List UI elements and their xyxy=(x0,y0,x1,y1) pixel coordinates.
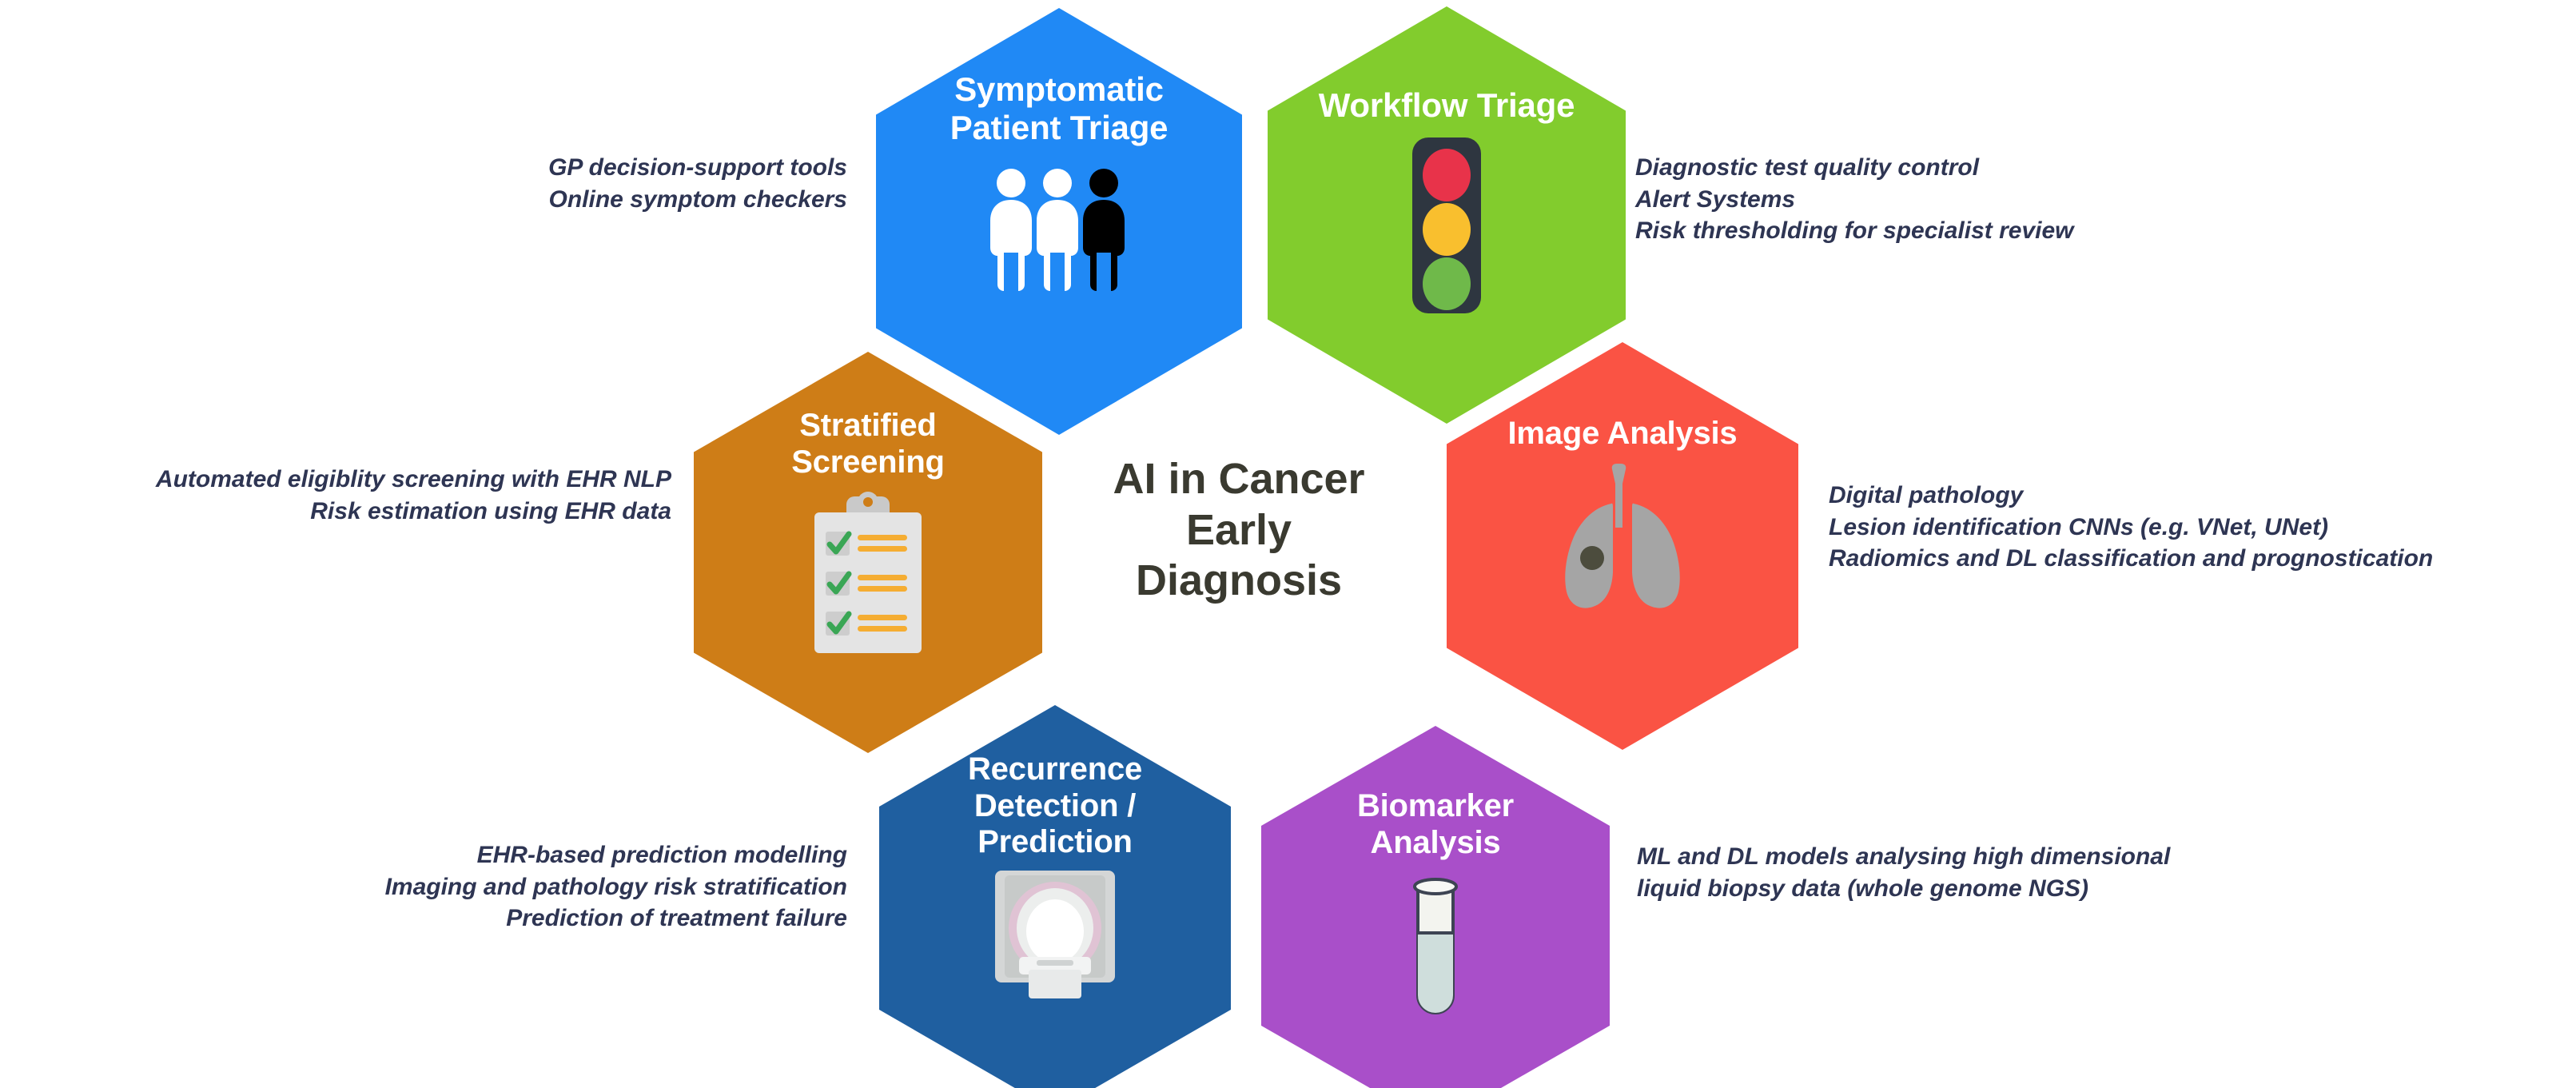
mri-scanner-icon xyxy=(987,867,1123,1003)
traffic-light-icon xyxy=(1403,137,1491,313)
hexagon-title-image-analysis: Image Analysis xyxy=(1508,416,1738,452)
annotation-workflow-triage: Diagnostic test quality control Alert Sy… xyxy=(1635,152,2259,247)
hexagon-title-biomarker-analysis: Biomarker Analysis xyxy=(1357,788,1514,861)
diagram-canvas: Symptomatic Patient Triage xyxy=(0,0,2576,1088)
annotation-image-analysis: Digital pathology Lesion identification … xyxy=(1829,480,2572,575)
annotation-biomarker-analysis: ML and DL models analysing high dimensio… xyxy=(1637,841,2340,904)
lung-nodule-marker xyxy=(1580,546,1604,570)
hexagon-image-analysis[interactable]: Image Analysis xyxy=(1447,342,1798,750)
hexagon-title-symptomatic-patient-triage: Symptomatic Patient Triage xyxy=(950,70,1169,147)
hexagon-workflow-triage[interactable]: Workflow Triage xyxy=(1268,6,1626,424)
center-title: AI in Cancer Early Diagnosis xyxy=(1031,454,1447,607)
hexagon-biomarker-analysis[interactable]: Biomarker Analysis xyxy=(1261,726,1610,1088)
three-people-icon xyxy=(979,163,1139,291)
hexagon-stratified-screening[interactable]: Stratified Screening xyxy=(694,352,1042,753)
annotation-symptomatic-patient-triage: GP decision-support tools Online symptom… xyxy=(432,152,847,215)
annotation-stratified-screening: Automated eligiblity screening with EHR … xyxy=(8,464,671,527)
lungs-nodule-icon xyxy=(1543,462,1702,610)
hexagon-title-workflow-triage: Workflow Triage xyxy=(1319,86,1575,125)
annotation-recurrence-detection-prediction: EHR-based prediction modelling Imaging a… xyxy=(224,839,847,935)
test-tube-icon xyxy=(1403,875,1467,1027)
clipboard-checklist-icon xyxy=(800,492,936,660)
hexagon-symptomatic-patient-triage[interactable]: Symptomatic Patient Triage xyxy=(876,8,1242,435)
hexagon-recurrence-detection-prediction[interactable]: Recurrence Detection / Prediction xyxy=(879,705,1231,1088)
hexagon-title-recurrence-detection-prediction: Recurrence Detection / Prediction xyxy=(968,751,1142,861)
hexagon-title-stratified-screening: Stratified Screening xyxy=(791,408,945,480)
